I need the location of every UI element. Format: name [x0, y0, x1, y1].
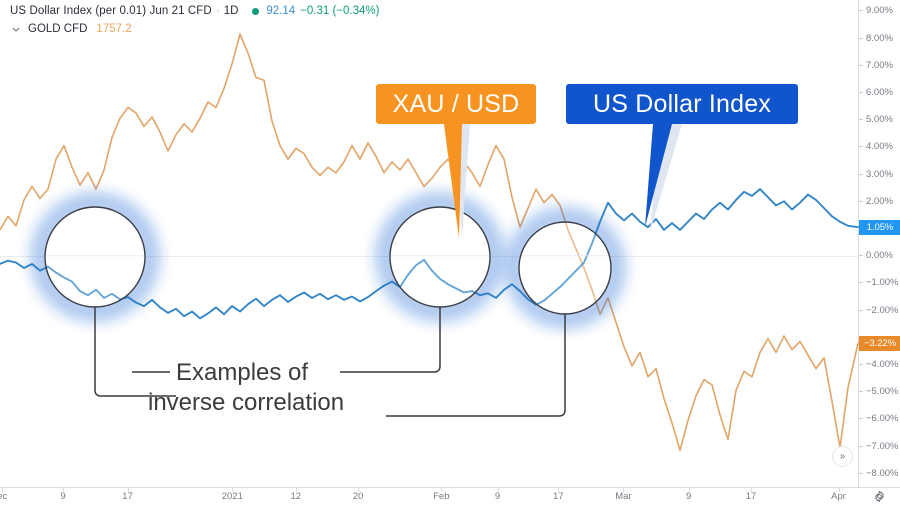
- annotation-line-2: inverse correlation: [148, 388, 344, 419]
- x-axis-tick: ec: [0, 491, 7, 502]
- y-axis-tick: 8.00%: [859, 32, 900, 44]
- x-axis-tick: 17: [553, 491, 564, 502]
- y-axis-tick: 9.00%: [859, 5, 900, 17]
- y-axis-tick: −7.00%: [859, 440, 900, 452]
- legend-row-primary[interactable]: US Dollar Index (per 0.01) Jun 21 CFD · …: [10, 2, 379, 20]
- x-axis-tick: 2021: [222, 491, 243, 502]
- x-axis-tick: 9: [686, 491, 691, 502]
- gear-icon: [873, 490, 886, 503]
- x-axis-tick: Feb: [433, 491, 449, 502]
- y-axis-tick: −5.00%: [859, 386, 900, 398]
- symbol-title[interactable]: US Dollar Index (per 0.01) Jun 21 CFD: [10, 5, 212, 17]
- x-axis-tick: 17: [746, 491, 757, 502]
- x-axis-tick: 20: [353, 491, 364, 502]
- chevron-down-icon[interactable]: [10, 23, 22, 35]
- status-dot-icon: [252, 8, 259, 15]
- y-axis-tick: 0.00%: [859, 250, 900, 262]
- plot-area[interactable]: [0, 0, 858, 487]
- callout-gold-label: XAU / USD: [393, 90, 520, 119]
- x-axis-tick: 12: [291, 491, 302, 502]
- y-axis-tick: 5.00%: [859, 114, 900, 126]
- x-axis-tick: 9: [495, 491, 500, 502]
- last-price: 92.14: [266, 5, 295, 17]
- legend-separator: ·: [216, 5, 220, 17]
- chart-settings-button[interactable]: [870, 487, 889, 506]
- compare-symbol[interactable]: GOLD CFD: [28, 23, 87, 35]
- y-axis-tick: −6.00%: [859, 413, 900, 425]
- price-change: −0.31 (−0.34%): [300, 5, 379, 17]
- y-axis-tick: 7.00%: [859, 59, 900, 71]
- y-axis-tick: −8.00%: [859, 467, 900, 479]
- y-axis-tick: −1.00%: [859, 277, 900, 289]
- y-axis-tick: 2.00%: [859, 195, 900, 207]
- scroll-to-realtime-button[interactable]: »: [832, 446, 853, 467]
- x-axis-tick: Mar: [615, 491, 631, 502]
- y-axis-tick: 3.00%: [859, 168, 900, 180]
- compare-value: 1757.2: [96, 23, 131, 35]
- callout-dxy: US Dollar Index: [566, 84, 798, 124]
- chart-screenshot: US Dollar Index (per 0.01) Jun 21 CFD · …: [0, 0, 900, 506]
- price-axis[interactable]: 9.00%8.00%7.00%6.00%5.00%4.00%3.00%2.00%…: [858, 0, 900, 487]
- y-axis-tick: 6.00%: [859, 87, 900, 99]
- double-chevron-right-icon: »: [840, 451, 846, 462]
- y-axis-tick: −2.00%: [859, 304, 900, 316]
- callout-dxy-label: US Dollar Index: [593, 90, 771, 119]
- y-axis-tick: −4.00%: [859, 359, 900, 371]
- x-axis-tick: 9: [60, 491, 65, 502]
- y-axis-tick: 4.00%: [859, 141, 900, 153]
- time-axis[interactable]: ec91720211220Feb917Mar917Apr: [0, 487, 900, 507]
- x-axis-tick: 17: [122, 491, 133, 502]
- interval-label[interactable]: 1D: [224, 5, 239, 17]
- legend-row-compare[interactable]: GOLD CFD 1757.2: [10, 20, 379, 38]
- chart-legend: US Dollar Index (per 0.01) Jun 21 CFD · …: [10, 2, 379, 38]
- x-axis-tick: Apr: [831, 491, 846, 502]
- dxy-price-badge: 1.05%: [859, 220, 900, 235]
- gold-price-badge: −3.22%: [859, 336, 900, 351]
- annotation-line-1: Examples of: [176, 358, 308, 389]
- zero-baseline: [0, 256, 858, 257]
- callout-gold: XAU / USD: [376, 84, 536, 124]
